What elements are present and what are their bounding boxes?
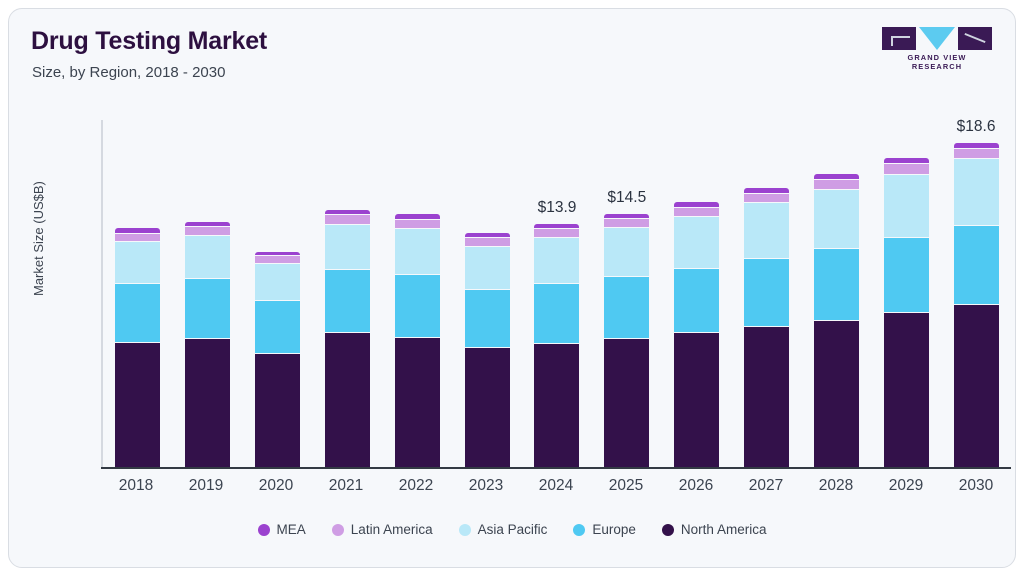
bar-segment[interactable] <box>744 259 789 328</box>
legend-color-swatch-icon <box>258 524 270 536</box>
x-axis-tick-label: 2024 <box>521 477 591 495</box>
logo-marks <box>882 27 992 50</box>
bar-segment[interactable] <box>325 225 370 270</box>
x-axis-tick-label: 2030 <box>941 477 1011 495</box>
bar-value-label: $14.5 <box>607 189 646 207</box>
bar-segment[interactable] <box>604 219 649 229</box>
bar-segment[interactable] <box>884 164 929 174</box>
bar-stack[interactable] <box>814 174 859 467</box>
bar-column[interactable] <box>382 120 452 467</box>
page-title: Drug Testing Market <box>31 27 267 56</box>
bar-segment[interactable] <box>884 238 929 313</box>
x-axis-tick-label: 2028 <box>801 477 871 495</box>
bar-stack[interactable] <box>744 188 789 467</box>
bar-stack[interactable] <box>185 222 230 467</box>
legend-color-swatch-icon <box>573 524 585 536</box>
plot-area: 05101520 $13.9$14.5$18.6 <box>101 120 1011 469</box>
bar-segment[interactable] <box>115 242 160 284</box>
legend-label: Europe <box>592 522 636 537</box>
x-axis-tick-label: 2018 <box>101 477 171 495</box>
bar-stack[interactable]: $18.6 <box>954 143 999 467</box>
bar-column[interactable] <box>452 120 522 467</box>
x-axis-tick-label: 2019 <box>171 477 241 495</box>
bar-segment[interactable] <box>814 190 859 249</box>
bar-stack[interactable]: $14.5 <box>604 214 649 467</box>
bar-segment[interactable] <box>604 277 649 339</box>
x-axis-tick-label: 2027 <box>731 477 801 495</box>
bar-segment[interactable] <box>744 327 789 467</box>
bar-stack[interactable] <box>884 158 929 467</box>
bar-column[interactable]: $18.6 <box>941 120 1011 467</box>
legend-item[interactable]: Asia Pacific <box>459 522 548 537</box>
bar-segment[interactable] <box>674 269 719 333</box>
bar-segment[interactable] <box>325 215 370 225</box>
legend-label: Latin America <box>351 522 433 537</box>
bar-stack[interactable] <box>465 233 510 467</box>
bar-column[interactable] <box>313 120 383 467</box>
bar-segment[interactable] <box>954 305 999 467</box>
bar-segment[interactable] <box>465 348 510 467</box>
bar-segment[interactable] <box>674 208 719 218</box>
bar-segment[interactable] <box>185 339 230 467</box>
bar-value-label: $13.9 <box>538 199 577 217</box>
bar-segment[interactable] <box>325 270 370 332</box>
bar-segment[interactable] <box>325 333 370 467</box>
legend-color-swatch-icon <box>459 524 471 536</box>
x-axis-tick-label: 2023 <box>451 477 521 495</box>
bar-segment[interactable] <box>534 344 579 467</box>
bar-segment[interactable] <box>465 238 510 247</box>
bar-segment[interactable] <box>954 226 999 305</box>
page-subtitle: Size, by Region, 2018 - 2030 <box>32 64 225 81</box>
bar-column[interactable] <box>732 120 802 467</box>
bar-column[interactable] <box>801 120 871 467</box>
legend-item[interactable]: Latin America <box>332 522 433 537</box>
x-axis-tick-label: 2021 <box>311 477 381 495</box>
bar-stack[interactable] <box>325 210 370 467</box>
legend-item[interactable]: North America <box>662 522 767 537</box>
bar-segment[interactable] <box>395 275 440 337</box>
bar-column[interactable] <box>173 120 243 467</box>
bar-stack[interactable] <box>115 228 160 467</box>
legend-label: Asia Pacific <box>478 522 548 537</box>
legend-label: North America <box>681 522 767 537</box>
legend-item[interactable]: Europe <box>573 522 636 537</box>
bar-segment[interactable] <box>255 256 300 264</box>
bar-stack[interactable] <box>395 214 440 467</box>
logo-r-icon <box>958 27 992 50</box>
logo-v-triangle-icon <box>919 27 955 50</box>
bar-segment[interactable] <box>674 217 719 269</box>
x-axis-tick-label: 2025 <box>591 477 661 495</box>
bar-stack[interactable] <box>255 252 300 467</box>
bar-stack[interactable] <box>674 202 719 467</box>
bar-segment[interactable] <box>395 229 440 275</box>
bar-segment[interactable] <box>534 284 579 344</box>
bar-segment[interactable] <box>395 338 440 467</box>
bar-segment[interactable] <box>604 228 649 277</box>
bar-segment[interactable] <box>534 229 579 238</box>
bar-segment[interactable] <box>115 284 160 343</box>
bar-segment[interactable] <box>255 301 300 354</box>
bar-segment[interactable] <box>744 194 789 204</box>
chart-card: Drug Testing Market Size, by Region, 201… <box>8 8 1016 568</box>
chart-legend: MEALatin AmericaAsia PacificEuropeNorth … <box>9 522 1015 537</box>
bar-segment[interactable] <box>744 203 789 259</box>
bar-segment[interactable] <box>185 227 230 236</box>
bar-segment[interactable] <box>674 333 719 467</box>
bar-segment[interactable] <box>465 290 510 348</box>
legend-label: MEA <box>277 522 306 537</box>
bar-column[interactable] <box>243 120 313 467</box>
bar-segment[interactable] <box>814 321 859 467</box>
x-axis-tick-label: 2020 <box>241 477 311 495</box>
bar-column[interactable]: $14.5 <box>592 120 662 467</box>
bar-column[interactable] <box>662 120 732 467</box>
bar-segment[interactable] <box>814 249 859 321</box>
legend-item[interactable]: MEA <box>258 522 306 537</box>
bar-segment[interactable] <box>185 279 230 339</box>
bar-stack[interactable]: $13.9 <box>534 224 579 467</box>
y-axis-title: Market Size (US$B) <box>31 181 46 296</box>
logo-wordmark: GRAND VIEW RESEARCH <box>882 53 992 71</box>
bar-value-label: $18.6 <box>957 118 996 136</box>
bar-segment[interactable] <box>185 236 230 279</box>
legend-color-swatch-icon <box>332 524 344 536</box>
x-axis-labels: 2018201920202021202220232024202520262027… <box>101 477 1011 495</box>
bar-series-group: $13.9$14.5$18.6 <box>103 120 1011 467</box>
bar-column[interactable]: $13.9 <box>522 120 592 467</box>
bar-column[interactable] <box>871 120 941 467</box>
bar-segment[interactable] <box>884 175 929 238</box>
logo-g-icon <box>882 27 916 50</box>
bar-segment[interactable] <box>884 313 929 467</box>
x-axis-tick-label: 2029 <box>871 477 941 495</box>
bar-segment[interactable] <box>954 149 999 159</box>
legend-color-swatch-icon <box>662 524 674 536</box>
bar-segment[interactable] <box>814 180 859 190</box>
bar-segment[interactable] <box>115 234 160 243</box>
bar-segment[interactable] <box>954 159 999 226</box>
bar-segment[interactable] <box>255 264 300 301</box>
bar-segment[interactable] <box>395 220 440 230</box>
bar-segment[interactable] <box>255 354 300 467</box>
bar-segment[interactable] <box>115 343 160 467</box>
bar-segment[interactable] <box>604 339 649 467</box>
bar-segment[interactable] <box>534 238 579 284</box>
bar-column[interactable] <box>103 120 173 467</box>
x-axis-tick-label: 2022 <box>381 477 451 495</box>
x-axis-line <box>101 467 1011 469</box>
grand-view-research-logo: GRAND VIEW RESEARCH <box>882 27 992 65</box>
x-axis-tick-label: 2026 <box>661 477 731 495</box>
bar-segment[interactable] <box>465 247 510 290</box>
